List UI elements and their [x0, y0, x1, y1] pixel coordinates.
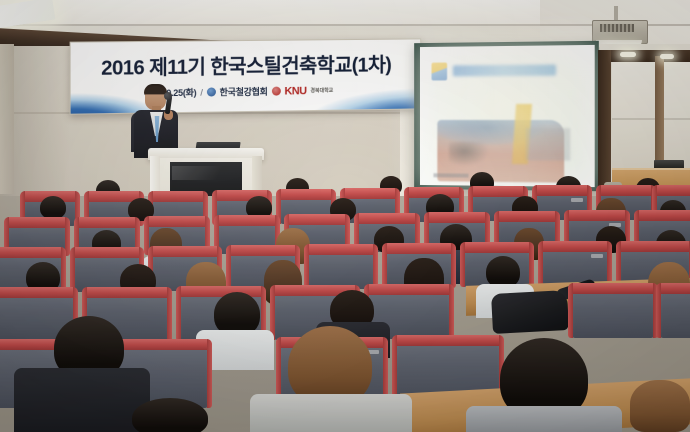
- lecture-hall-photo: 2016 제11기 한국스틸건축학교(1차) 10.25(화) / 한국철강협회…: [0, 0, 690, 432]
- attendee-head: [630, 380, 690, 432]
- ksa-logo-icon: [207, 87, 216, 96]
- left-wall-edge: [0, 44, 14, 194]
- banner-separator: /: [200, 87, 202, 97]
- attendee-body: [250, 394, 412, 432]
- attendee-head: [40, 196, 66, 219]
- backpack: [491, 290, 569, 334]
- attendee-head: [132, 398, 208, 432]
- projector-vent: [600, 24, 634, 32]
- slide-heading-text: [453, 65, 556, 77]
- auditorium-seat[interactable]: [660, 288, 690, 338]
- event-banner: 2016 제11기 한국스틸건축학교(1차) 10.25(화) / 한국철강협회…: [70, 38, 422, 114]
- microphone-capsule: [164, 92, 172, 100]
- attendee-body: [14, 368, 150, 432]
- banner-org-secondary: KNU: [284, 85, 306, 97]
- banner-org-secondary-sub: 경북대학교: [310, 87, 333, 94]
- slide-logo-icon: [432, 63, 448, 81]
- booth-wall: [612, 62, 690, 172]
- booth-downlight-2: [660, 54, 674, 59]
- attendee-body: [466, 406, 622, 432]
- banner-org-primary: 한국철강협회: [220, 85, 268, 99]
- booth-downlight-1: [620, 52, 636, 57]
- booth-header-beam: [600, 50, 690, 62]
- banner-title: 2016 제11기 한국스틸건축학교(1차): [71, 48, 421, 81]
- booth-post-right: [655, 56, 664, 176]
- projection-screen: [420, 45, 595, 187]
- podium-panel-gloss: [172, 166, 238, 180]
- slide-diagram-shade: [449, 142, 488, 166]
- auditorium-seat[interactable]: [308, 249, 374, 289]
- auditorium-seat[interactable]: [542, 246, 608, 286]
- slide-footer-text: [433, 173, 468, 177]
- knu-logo-icon: [271, 87, 280, 96]
- ceiling-seam: [0, 24, 690, 26]
- booth-wall-line: [612, 118, 690, 120]
- auditorium-seat[interactable]: [572, 288, 654, 338]
- slide-diagram-panel: [526, 128, 570, 160]
